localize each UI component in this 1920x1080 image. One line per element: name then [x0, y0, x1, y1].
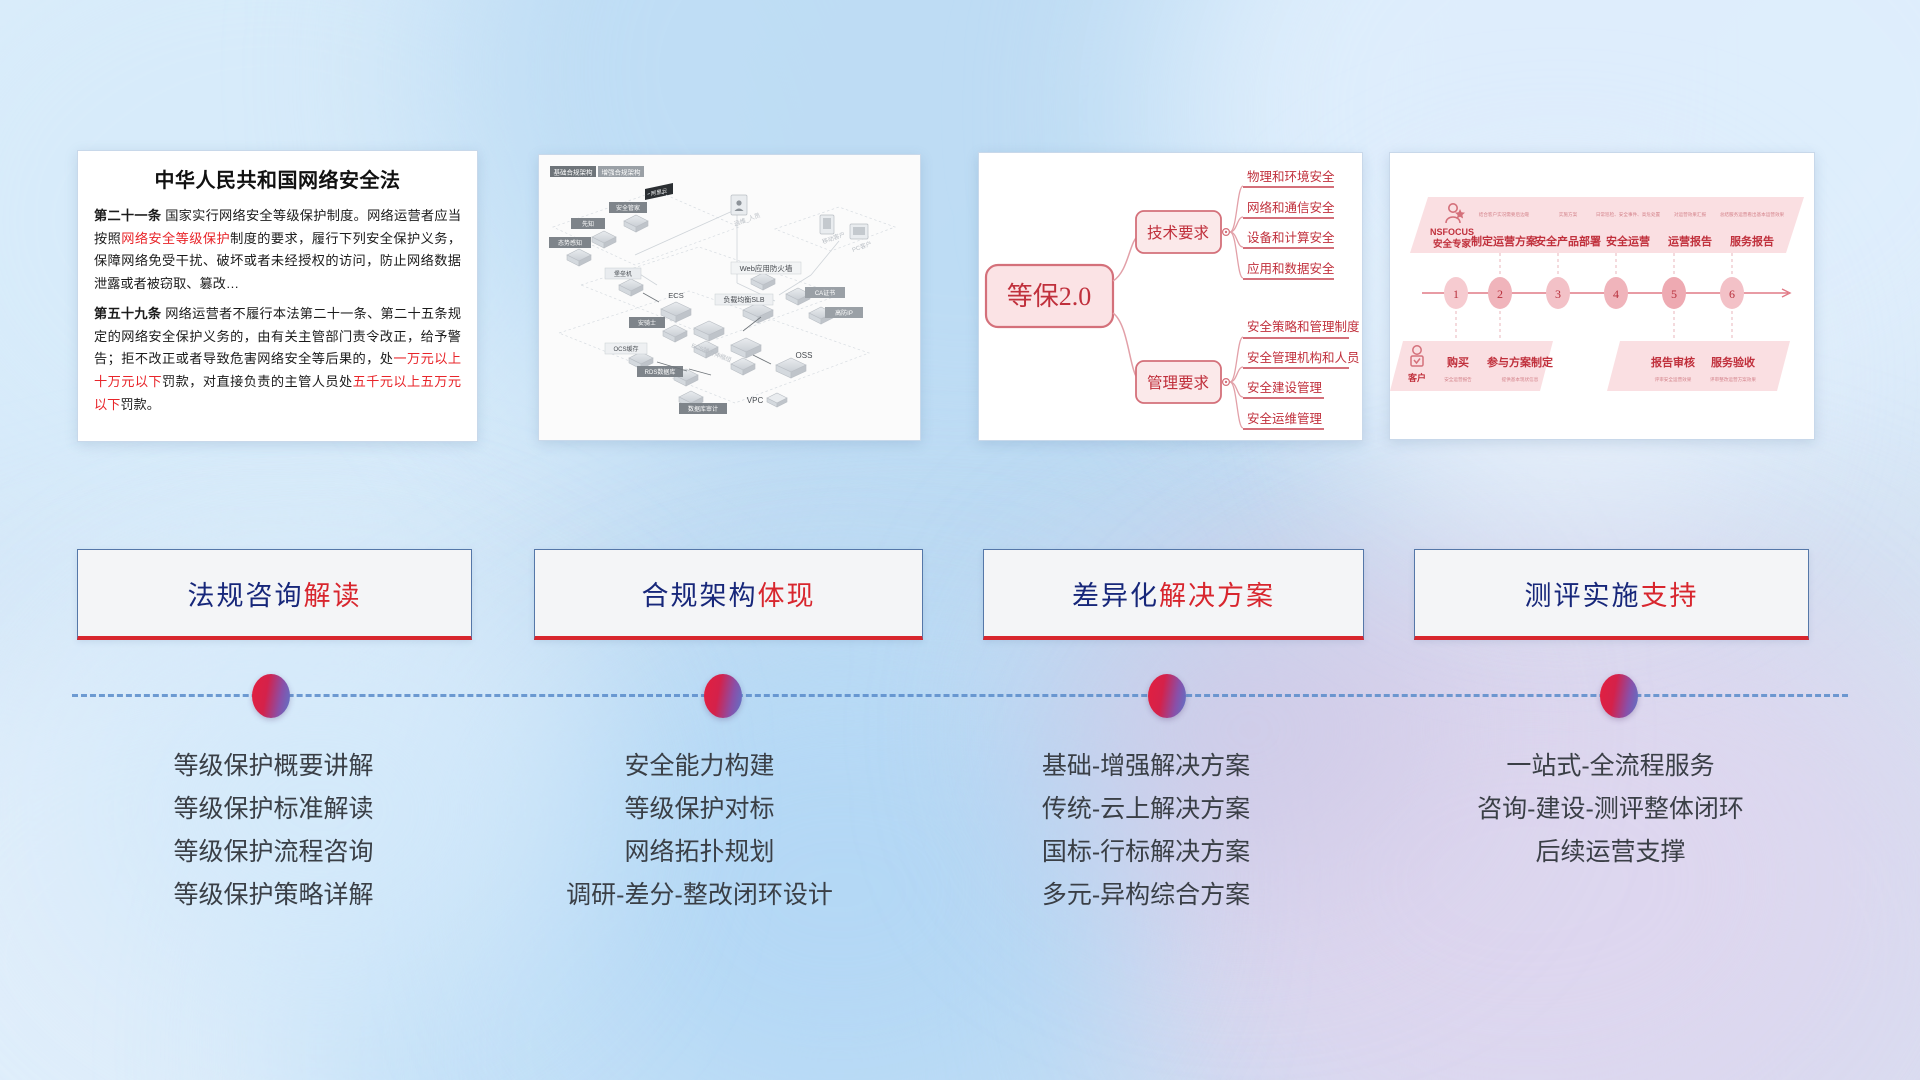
- svg-text:设备和计算安全: 设备和计算安全: [1247, 230, 1335, 245]
- column-differentiated-solution: 基础-增强解决方案 传统-云上解决方案 国标-行标解决方案 多元-异构综合方案: [930, 745, 1362, 917]
- svg-text:结合客户实况需要后边靠: 结合客户实况需要后边靠: [1479, 211, 1530, 218]
- svg-text:客户: 客户: [1407, 372, 1426, 383]
- timeline-dashed-line: [72, 694, 1848, 697]
- list-item: 网络拓扑规划: [478, 831, 921, 874]
- svg-text:Web应用防火墙: Web应用防火墙: [740, 263, 793, 273]
- label-part-primary: 差异化: [1072, 574, 1159, 613]
- list-item: 安全能力构建: [478, 745, 921, 788]
- label-part-accent: 解读: [304, 574, 362, 613]
- label-part-accent: 体现: [758, 574, 816, 613]
- svg-text:网络和通信安全: 网络和通信安全: [1247, 200, 1335, 215]
- svg-text:服务报告: 服务报告: [1730, 234, 1774, 248]
- mindmap-diagram: 等保2.0 技术要求 物理和环境安全 网络和通信安全 设备和计算安全: [979, 153, 1362, 440]
- list-item: 基础-增强解决方案: [930, 745, 1362, 788]
- list-item: 咨询-建设-测评整体闭环: [1378, 788, 1843, 831]
- svg-text:等保2.0: 等保2.0: [1007, 282, 1092, 311]
- svg-text:安全专家: 安全专家: [1433, 238, 1472, 250]
- law-title: 中华人民共和国网络安全法: [94, 164, 461, 193]
- timeline: [0, 665, 1920, 725]
- column-compliance-architecture: 安全能力构建 等级保护对标 网络拓扑规划 调研-差分-整改闭环设计: [478, 745, 921, 917]
- service-roadmap-card[interactable]: NSFOCUS 安全专家 制定运营方案 安全产品部署 安全运营 运营报告 服务报…: [1389, 152, 1815, 440]
- svg-text:制定运营方案: 制定运营方案: [1471, 234, 1538, 248]
- svg-text:增强合规架构: 增强合规架构: [602, 168, 642, 177]
- svg-text:安全策略和管理制度: 安全策略和管理制度: [1247, 319, 1360, 334]
- svg-text:安全建设管理: 安全建设管理: [1247, 380, 1323, 395]
- svg-text:运营报告: 运营报告: [1668, 234, 1712, 248]
- list-item: 等级保护策略详解: [77, 874, 470, 917]
- label-part-accent: 支持: [1641, 574, 1699, 613]
- svg-text:6: 6: [1729, 287, 1735, 301]
- list-item: 调研-差分-整改闭环设计: [478, 874, 921, 917]
- svg-text:安全运营: 安全运营: [1606, 234, 1650, 248]
- svg-text:3: 3: [1555, 287, 1561, 301]
- svg-text:4: 4: [1613, 287, 1619, 301]
- svg-text:NSFOCUS: NSFOCUS: [1430, 227, 1474, 237]
- svg-text:报告审核: 报告审核: [1651, 355, 1695, 369]
- label-row: 法规咨询解读 合规架构体现 差异化解决方案 测评实施支持: [0, 549, 1920, 649]
- svg-text:数据库审计: 数据库审计: [688, 405, 718, 413]
- cybersecurity-law-card[interactable]: 中华人民共和国网络安全法 第二十一条 国家实行网络安全等级保护制度。网络运营者应…: [77, 150, 478, 442]
- label-part-primary: 法规咨询: [188, 574, 304, 613]
- svg-text:日常巡检、安全事件、高危处置: 日常巡检、安全事件、高危处置: [1596, 211, 1661, 218]
- list-item: 等级保护概要讲解: [77, 745, 470, 788]
- svg-text:1: 1: [1453, 287, 1459, 301]
- svg-text:管理要求: 管理要求: [1147, 374, 1209, 392]
- label-regulation-consulting[interactable]: 法规咨询解读: [77, 549, 472, 640]
- svg-text:安全管理机构和人员: 安全管理机构和人员: [1247, 350, 1360, 365]
- label-assessment-support[interactable]: 测评实施支持: [1414, 549, 1809, 640]
- svg-text:OCS缓存: OCS缓存: [613, 345, 638, 353]
- svg-text:CA证书: CA证书: [815, 289, 835, 297]
- svg-text:安全产品部署: 安全产品部署: [1535, 234, 1601, 248]
- architecture-diagram: 基础合规架构 增强合规架构 阿里云: [539, 155, 920, 440]
- list-item: 多元-异构综合方案: [930, 874, 1362, 917]
- svg-text:ECS: ECS: [668, 291, 683, 300]
- list-item: 等级保护流程咨询: [77, 831, 470, 874]
- label-part-primary: 测评实施: [1525, 574, 1641, 613]
- svg-text:先知: 先知: [582, 220, 594, 228]
- list-item: 传统-云上解决方案: [930, 788, 1362, 831]
- svg-text:高防IP: 高防IP: [835, 309, 853, 317]
- svg-text:安全运维管理: 安全运维管理: [1247, 411, 1323, 426]
- svg-text:服务验收: 服务验收: [1711, 355, 1755, 369]
- label-part-primary: 合规架构: [642, 574, 758, 613]
- svg-text:基础合规架构: 基础合规架构: [554, 168, 594, 177]
- roadmap-diagram: NSFOCUS 安全专家 制定运营方案 安全产品部署 安全运营 运营报告 服务报…: [1390, 153, 1814, 439]
- svg-text:参与方案制定: 参与方案制定: [1487, 355, 1553, 369]
- svg-text:提供基本现状信息: 提供基本现状信息: [1502, 376, 1539, 383]
- svg-text:对运营效果汇报: 对运营效果汇报: [1674, 211, 1707, 218]
- timeline-dot-1[interactable]: [252, 674, 290, 718]
- svg-text:物理和环境安全: 物理和环境安全: [1247, 169, 1335, 184]
- svg-text:应用和数据安全: 应用和数据安全: [1247, 261, 1335, 276]
- svg-text:评审安全运营效果: 评审安全运营效果: [1655, 376, 1692, 383]
- svg-text:OSS: OSS: [796, 351, 813, 360]
- label-differentiated-solution[interactable]: 差异化解决方案: [983, 549, 1364, 640]
- list-item: 一站式-全流程服务: [1378, 745, 1843, 788]
- law-article-21: 第二十一条 国家实行网络安全等级保护制度。网络运营者应当按照网络安全等级保护制度…: [94, 205, 461, 296]
- svg-text:安骑士: 安骑士: [638, 319, 656, 327]
- timeline-dot-4[interactable]: [1600, 674, 1638, 718]
- svg-text:安全运营报告: 安全运营报告: [1444, 376, 1472, 383]
- thumbnail-row: 中华人民共和国网络安全法 第二十一条 国家实行网络安全等级保护制度。网络运营者应…: [0, 150, 1920, 450]
- svg-text:态势感知: 态势感知: [558, 239, 582, 247]
- label-compliance-architecture[interactable]: 合规架构体现: [534, 549, 923, 640]
- list-item: 等级保护对标: [478, 788, 921, 831]
- svg-text:5: 5: [1671, 287, 1677, 301]
- svg-text:总结服务运营看出基本运营效果: 总结服务运营看出基本运营效果: [1720, 211, 1785, 218]
- law-article-59: 第五十九条 网络运营者不履行本法第二十一条、第二十五条规定的网络安全保护义务的，…: [94, 303, 461, 417]
- svg-text:实施方案: 实施方案: [1559, 211, 1578, 218]
- svg-text:RDS数据库: RDS数据库: [645, 368, 676, 376]
- svg-text:安全管家: 安全管家: [616, 204, 640, 212]
- column-assessment-support: 一站式-全流程服务 咨询-建设-测评整体闭环 后续运营支撑: [1378, 745, 1843, 874]
- timeline-dot-2[interactable]: [704, 674, 742, 718]
- svg-text:评审整改运营方案效果: 评审整改运营方案效果: [1710, 376, 1756, 383]
- list-item: 国标-行标解决方案: [930, 831, 1362, 874]
- svg-text:2: 2: [1497, 287, 1503, 301]
- label-part-accent: 解决方案: [1159, 574, 1275, 613]
- svg-text:负载均衡SLB: 负载均衡SLB: [723, 295, 765, 304]
- column-regulation-consulting: 等级保护概要讲解 等级保护标准解读 等级保护流程咨询 等级保护策略详解: [77, 745, 470, 917]
- compliance-architecture-card[interactable]: 基础合规架构 增强合规架构 阿里云: [538, 154, 921, 441]
- list-item: 等级保护标准解读: [77, 788, 470, 831]
- timeline-dot-3[interactable]: [1148, 674, 1186, 718]
- svg-text:堡垒机: 堡垒机: [614, 270, 632, 278]
- svg-text:VPC: VPC: [747, 396, 764, 405]
- list-item: 后续运营支撑: [1378, 831, 1843, 874]
- svg-text:购买: 购买: [1447, 355, 1469, 369]
- mindmap-card[interactable]: 等保2.0 技术要求 物理和环境安全 网络和通信安全 设备和计算安全: [978, 152, 1363, 441]
- svg-text:技术要求: 技术要求: [1147, 224, 1209, 242]
